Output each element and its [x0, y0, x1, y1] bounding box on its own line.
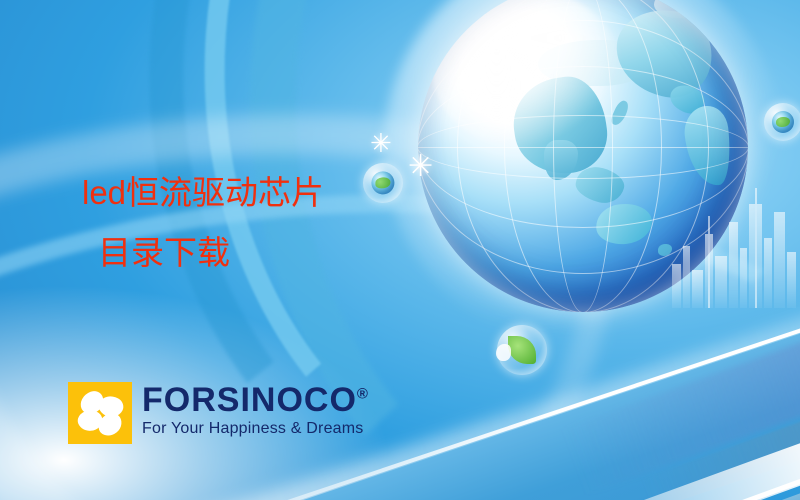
registered-trademark-icon: ® — [357, 386, 369, 403]
headline-text: led恒流驱动芯片 目录下载 — [82, 163, 324, 283]
green-leaf-icon — [508, 336, 536, 364]
brand-logo[interactable]: FORSINOCO® For Your Happiness & Dreams — [68, 382, 369, 444]
bubble-mini-globe-right — [764, 103, 800, 141]
brand-logo-text: FORSINOCO® For Your Happiness & Dreams — [142, 382, 369, 439]
brand-name: FORSINOCO® — [142, 382, 369, 418]
four-petal-pinwheel-icon — [68, 382, 132, 444]
banner-canvas: ✳ ✳ led恒流驱动芯片 目录下载 FORSINOCO — [0, 0, 800, 500]
globe-equator — [418, 147, 748, 148]
sparkle-star-icon-1: ✳ — [370, 130, 392, 156]
sparkle-star-icon-2: ✳ — [408, 152, 433, 182]
mini-globe-icon-2 — [772, 111, 794, 133]
brand-tagline: For Your Happiness & Dreams — [142, 419, 369, 439]
brand-name-word: FORSINOCO — [142, 381, 357, 419]
headline-line-1: led恒流驱动芯片 — [82, 174, 324, 211]
city-skyline-icon — [668, 188, 800, 308]
headline-line-2: 目录下载 — [82, 223, 324, 283]
bubble-leaf — [497, 325, 547, 375]
mini-globe-icon-1 — [371, 171, 394, 194]
bubble-mini-globe-center — [363, 163, 403, 203]
